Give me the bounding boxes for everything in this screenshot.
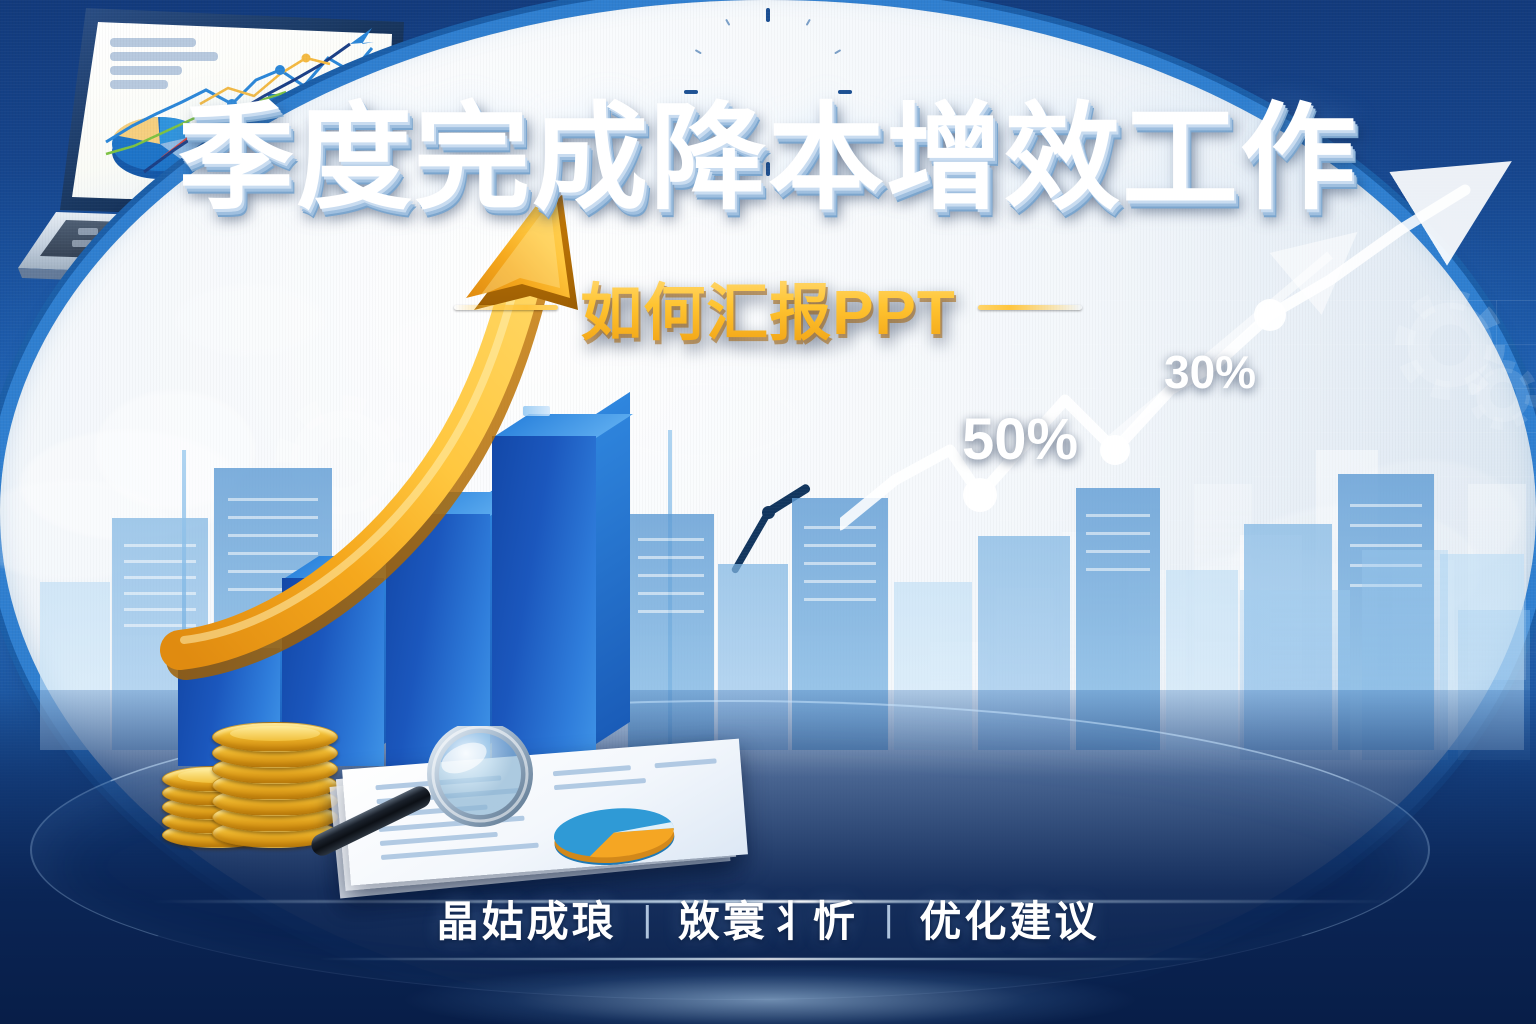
keyword-separator: | — [884, 898, 893, 940]
keyword-item-2: 敚寰丬忻 — [678, 888, 858, 949]
page-title: 季度完成降本增效工作 — [0, 96, 1536, 221]
keyword-item-1: 晶姑成琅 — [437, 888, 617, 949]
ground-glow — [300, 940, 1240, 1024]
magnifying-glass-icon — [300, 726, 560, 866]
document-pie-chart — [541, 787, 686, 872]
page-subtitle: 如何汇报PPT — [580, 262, 956, 352]
subtitle-dash-left — [454, 305, 558, 310]
growth-arrow-icon — [150, 170, 630, 690]
keyword-divider-line — [318, 958, 1218, 960]
title-block: 季度完成降本增效工作 — [0, 96, 1536, 221]
keyword-item-3: 优化建议 — [919, 888, 1099, 949]
subtitle-dash-right — [978, 305, 1082, 310]
keyword-bar: 晶姑成琅 | 敚寰丬忻 | 优化建议 — [0, 888, 1536, 949]
subtitle-block: 如何汇报PPT — [0, 262, 1536, 352]
percent-label-30: 30% — [1164, 345, 1256, 399]
percent-label-50: 50% — [962, 406, 1078, 473]
keyword-separator: | — [643, 898, 652, 940]
poster-canvas: 50% 30% — [0, 0, 1536, 1024]
